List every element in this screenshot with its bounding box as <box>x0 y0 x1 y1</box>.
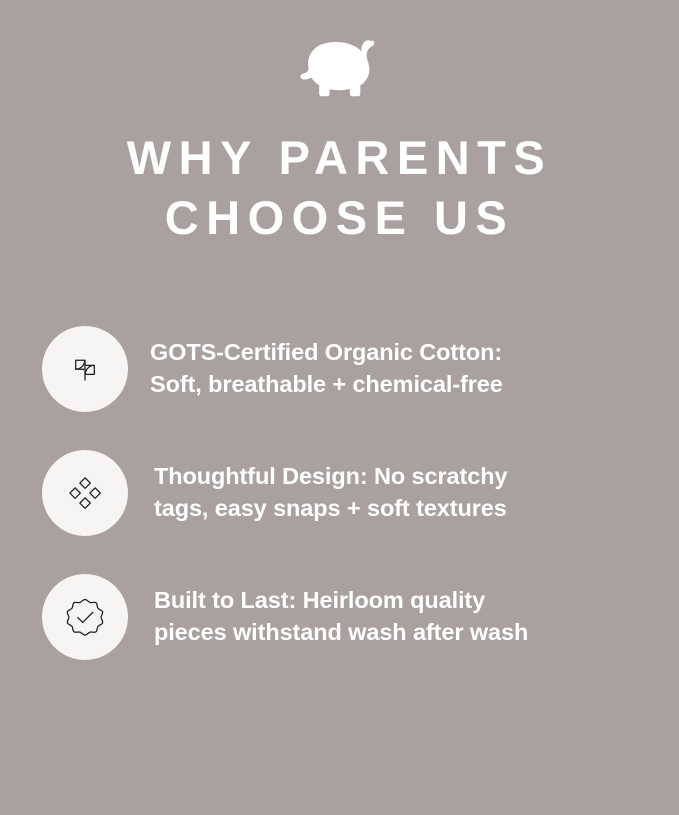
feature-icon-badge-2 <box>42 450 128 536</box>
feature-list: GOTS-Certified Organic Cotton: Soft, bre… <box>0 326 679 660</box>
feature-item-built-to-last: Built to Last: Heirloom quality pieces w… <box>0 574 679 660</box>
brand-logo <box>290 36 390 106</box>
feature-2-line-1: Thoughtful Design: No scratchy <box>154 461 507 492</box>
feature-text-2: Thoughtful Design: No scratchy tags, eas… <box>154 461 507 524</box>
feature-1-line-1: GOTS-Certified Organic Cotton: <box>150 337 503 368</box>
feature-icon-badge-1 <box>42 326 128 412</box>
feature-2-line-2: tags, easy snaps + soft textures <box>154 493 507 524</box>
feature-text-3: Built to Last: Heirloom quality pieces w… <box>154 585 528 648</box>
feature-text-1: GOTS-Certified Organic Cotton: Soft, bre… <box>150 337 503 400</box>
sprout-icon <box>64 348 106 390</box>
four-diamonds-icon <box>64 472 106 514</box>
feature-3-line-2: pieces withstand wash after wash <box>154 617 528 648</box>
feature-item-thoughtful-design: Thoughtful Design: No scratchy tags, eas… <box>0 450 679 536</box>
feature-3-line-1: Built to Last: Heirloom quality <box>154 585 528 616</box>
feature-icon-badge-3 <box>42 574 128 660</box>
feature-1-line-2: Soft, breathable + chemical-free <box>150 369 503 400</box>
page-title: WHY PARENTS CHOOSE US <box>0 128 679 248</box>
headline-line-2: CHOOSE US <box>20 188 659 248</box>
verified-badge-check-icon <box>62 594 108 640</box>
why-parents-choose-us-poster: WHY PARENTS CHOOSE US <box>0 0 679 815</box>
headline-line-1: WHY PARENTS <box>20 128 659 188</box>
feature-item-organic-cotton: GOTS-Certified Organic Cotton: Soft, bre… <box>0 326 679 412</box>
elephant-icon <box>292 37 388 105</box>
